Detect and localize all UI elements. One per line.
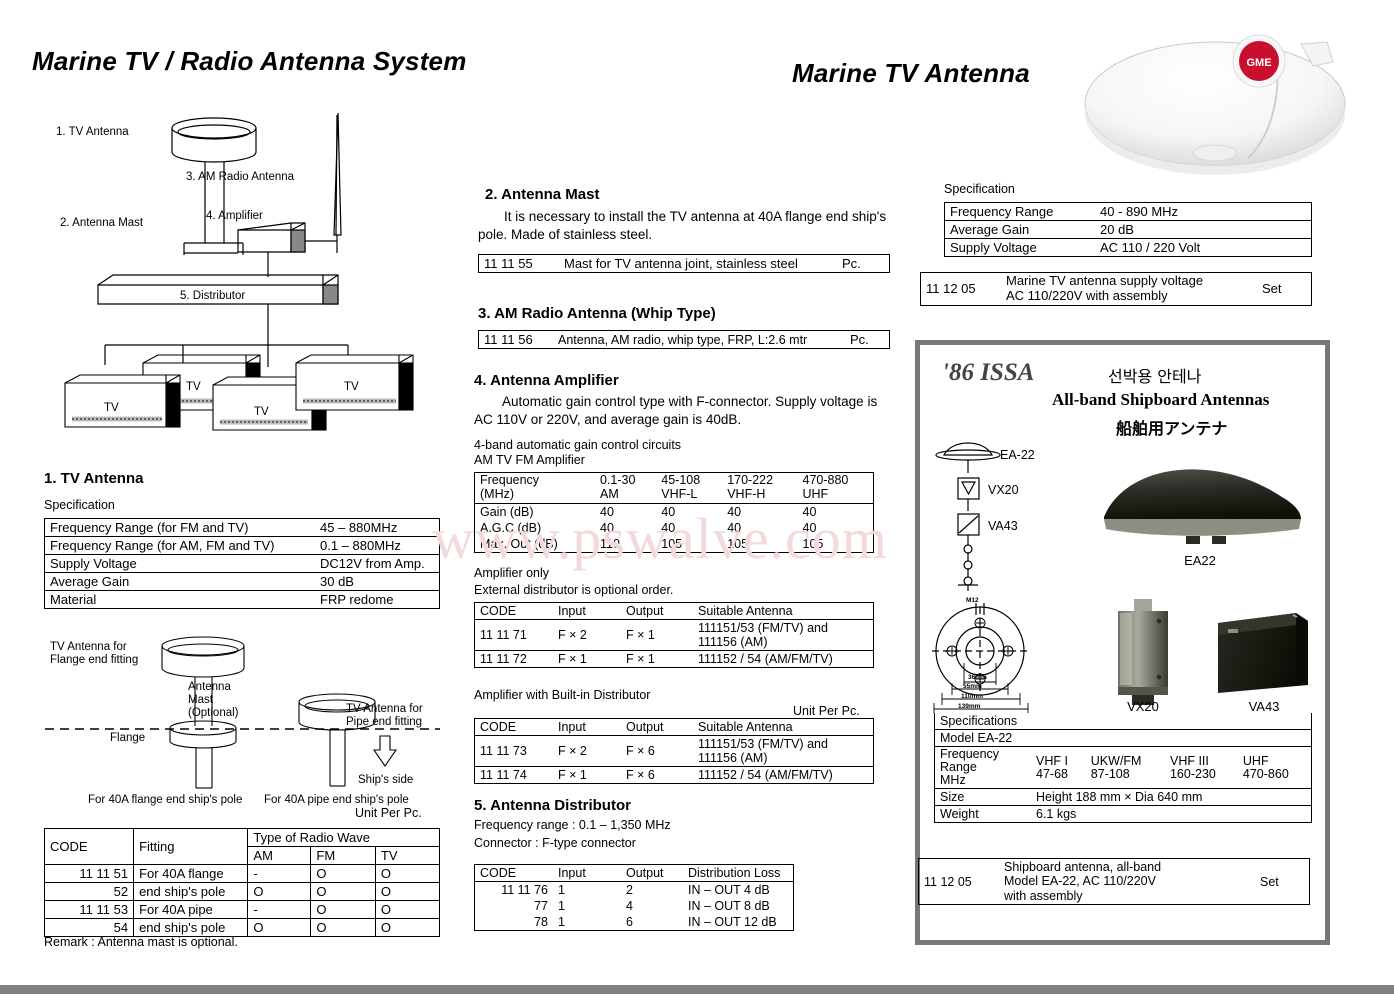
marine-tv-spec-table: Frequency Range 40 - 890 MHz Average Gai… bbox=[944, 202, 1312, 257]
band-range: 160-230 bbox=[1170, 767, 1216, 781]
cell-input: 1 bbox=[553, 898, 621, 914]
cell-value: 40 bbox=[656, 503, 722, 520]
diagram-label-amplifier: 4. Amplifier bbox=[206, 210, 263, 222]
band-range: 170-222 bbox=[727, 473, 773, 487]
section5-title: 5. Antenna Distributor bbox=[474, 797, 631, 814]
cell-output: 2 bbox=[621, 882, 683, 899]
band-name: UHF bbox=[1243, 754, 1269, 768]
band-name: VHF I bbox=[1036, 754, 1068, 768]
weight-label: Weight bbox=[935, 806, 1032, 823]
cell-unit: Pc. bbox=[837, 255, 890, 273]
schematic-label-ea22: EA-22 bbox=[1000, 448, 1035, 462]
spec-name: Frequency Range (for AM, FM and TV) bbox=[45, 537, 316, 555]
cell-input: 1 bbox=[553, 914, 621, 931]
col-am: AM bbox=[248, 847, 311, 865]
band-name: AM bbox=[600, 487, 619, 501]
col-input: Input bbox=[553, 603, 621, 620]
diagram-label-tv-1: TV bbox=[104, 402, 119, 414]
spec-name: Average Gain bbox=[45, 573, 316, 591]
col-code: CODE bbox=[45, 829, 134, 865]
gme-logo-text: GME bbox=[1246, 57, 1271, 69]
row-label: Max. Out (dB) bbox=[475, 536, 596, 553]
issa-japanese-title: 船舶用アンテナ bbox=[1116, 415, 1227, 439]
cell-unit: Set bbox=[1255, 859, 1310, 905]
band-name: UKW/FM bbox=[1091, 754, 1142, 768]
cell-am: O bbox=[248, 919, 311, 937]
cell-value: 40 bbox=[722, 503, 797, 520]
table-row: Supply Voltage DC12V from Amp. bbox=[45, 555, 440, 573]
table-header-row: CODE Fitting Type of Radio Wave bbox=[45, 829, 440, 847]
cell-fitting: For 40A flange bbox=[134, 865, 248, 883]
cell-code: 11 11 72 bbox=[475, 651, 554, 668]
cell-value: 110 bbox=[595, 536, 656, 553]
fitting-left-caption-line1: TV Antenna for bbox=[50, 641, 127, 653]
table-row: 11 11 51 For 40A flange - O O bbox=[45, 865, 440, 883]
col-input: Input bbox=[553, 865, 621, 882]
band-name: VHF III bbox=[1170, 754, 1209, 768]
table-row: Frequency Range (for AM, FM and TV) 0.1 … bbox=[45, 537, 440, 555]
cell-output: F × 6 bbox=[621, 767, 693, 784]
section2-title: 2. Antenna Mast bbox=[485, 186, 599, 203]
table-row: 54 end ship's pole O O O bbox=[45, 919, 440, 937]
section1-title: 1. TV Antenna bbox=[44, 470, 143, 487]
spec-value: AC 110 / 220 Volt bbox=[1095, 239, 1312, 257]
spec-name: Frequency Range (for FM and TV) bbox=[45, 519, 316, 537]
spec-value: 40 - 890 MHz bbox=[1095, 203, 1312, 221]
diagram-label-tv-2: TV bbox=[186, 381, 201, 393]
table-row: 78 1 6 IN – OUT 12 dB bbox=[475, 914, 794, 931]
cell-code: 11 11 76 bbox=[475, 882, 554, 899]
col-code: CODE bbox=[475, 719, 554, 736]
builtin-distributor-table: CODE Input Output Suitable Antenna 11 11… bbox=[474, 718, 874, 784]
cell-code: 52 bbox=[45, 883, 134, 901]
cell-fitting: end ship's pole bbox=[134, 919, 248, 937]
section5-line1: Frequency range : 0.1 – 1,350 MHz bbox=[474, 818, 671, 832]
diagram-label-antenna-mast: 2. Antenna Mast bbox=[60, 217, 144, 229]
cell-value: 40 bbox=[595, 520, 656, 536]
cell-desc: Marine TV antenna supply voltage AC 110/… bbox=[1001, 273, 1257, 306]
table-row: 11 11 72 F × 1 F × 1 111152 / 54 (AM/FM/… bbox=[475, 651, 874, 668]
table-row: Frequency Range 40 - 890 MHz bbox=[945, 203, 1312, 221]
issa-band-4: UHF 470-860 bbox=[1238, 747, 1312, 789]
cell-code: 11 12 05 bbox=[921, 273, 1002, 306]
table-row: 11 11 56 Antenna, AM radio, whip type, F… bbox=[479, 331, 890, 349]
cell-desc: Mast for TV antenna joint, stainless ste… bbox=[559, 255, 837, 273]
cell-fitting: end ship's pole bbox=[134, 883, 248, 901]
section4-band-note-line2: AM TV FM Amplifier bbox=[474, 453, 585, 467]
cell-output: F × 1 bbox=[621, 651, 693, 668]
table-row: Max. Out (dB) 110 105 105 105 bbox=[475, 536, 874, 553]
table-header-row: CODE Input Output Suitable Antenna bbox=[475, 603, 874, 620]
marine-tv-order-table: 11 12 05 Marine TV antenna supply voltag… bbox=[920, 272, 1312, 306]
col-fitting: Fitting bbox=[134, 829, 248, 865]
schematic-label-vx20: VX20 bbox=[988, 483, 1019, 497]
size-label: Size bbox=[935, 789, 1032, 806]
issa-band-1: VHF I 47-68 bbox=[1031, 747, 1086, 789]
diagram-label-am-radio-antenna: 3. AM Radio Antenna bbox=[186, 171, 295, 183]
table-row: Size Height 188 mm × Dia 640 mm bbox=[935, 789, 1312, 806]
weight-value: 6.1 kgs bbox=[1031, 806, 1312, 823]
fitting-left-caption-line2: Flange end fitting bbox=[50, 654, 138, 666]
issa-order-table: 11 12 05 Shipboard antenna, all-band Mod… bbox=[918, 858, 1310, 905]
cell-code: 11 12 05 bbox=[919, 859, 1000, 905]
table-row: 11 11 73 F × 2 F × 6 111151/53 (FM/TV) a… bbox=[475, 736, 874, 767]
col-output: Output bbox=[621, 603, 693, 620]
size-value: Height 188 mm × Dia 640 mm bbox=[1031, 789, 1312, 806]
band-col-2: 45-108 VHF-L bbox=[656, 473, 722, 504]
cell-output: 4 bbox=[621, 898, 683, 914]
band-range: 87-108 bbox=[1091, 767, 1130, 781]
spec-value: FRP redome bbox=[315, 591, 440, 609]
photo-label-va43: VA43 bbox=[1249, 699, 1280, 714]
diagram-label-distributor: 5. Distributor bbox=[180, 290, 245, 302]
tv-antenna-spec-table: Frequency Range (for FM and TV) 45 – 880… bbox=[44, 518, 440, 609]
cell-input: F × 1 bbox=[553, 767, 621, 784]
band-col-4: 470-880 UHF bbox=[798, 473, 874, 504]
table-row: 11 11 74 F × 1 F × 6 111152 / 54 (AM/FM/… bbox=[475, 767, 874, 784]
section1-spec-label: Specification bbox=[44, 498, 115, 512]
table-header-row: CODE Input Output Distribution Loss bbox=[475, 865, 794, 882]
fitting-right-caption-line1: TV Antenna for bbox=[346, 703, 423, 715]
table-row: Model EA-22 bbox=[935, 730, 1312, 747]
amplifier-only-table: CODE Input Output Suitable Antenna 11 11… bbox=[474, 602, 874, 668]
issa-product-photos: EA22 VX20 VA43 bbox=[1096, 441, 1321, 711]
spec-name: Supply Voltage bbox=[945, 239, 1096, 257]
cell-code: 11 11 55 bbox=[479, 255, 560, 273]
dim-label-139mm: 139mm bbox=[958, 703, 981, 710]
fitting-right-bottom-label: For 40A pipe end ship's pole bbox=[264, 794, 409, 806]
cell-input: F × 2 bbox=[553, 620, 621, 651]
spec-value: 45 – 880MHz bbox=[315, 519, 440, 537]
cell-loss: IN – OUT 8 dB bbox=[683, 898, 794, 914]
cell-antenna: 111151/53 (FM/TV) and 111156 (AM) bbox=[693, 736, 874, 767]
amplifier-only-line2: External distributor is optional order. bbox=[474, 583, 673, 597]
system-diagram: 1. TV Antenna 2. Antenna Mast 3. AM Radi… bbox=[38, 105, 458, 435]
cell-code: 77 bbox=[475, 898, 554, 914]
ships-side-label: Ship's side bbox=[358, 774, 413, 786]
table-row: 11 11 76 1 2 IN – OUT 4 dB bbox=[475, 882, 794, 899]
cell-fitting: For 40A pipe bbox=[134, 901, 248, 919]
table-row: 11 12 05 Shipboard antenna, all-band Mod… bbox=[919, 859, 1310, 905]
table-row: A.G.C (dB) 40 40 40 40 bbox=[475, 520, 874, 536]
cell-value: 105 bbox=[798, 536, 874, 553]
freq-label: Frequency bbox=[480, 473, 539, 487]
freq-range-row-label: Frequency Range MHz bbox=[935, 747, 1032, 789]
mast-caption-line3: (Optional) bbox=[188, 707, 239, 719]
table-row: 11 11 71 F × 2 F × 1 111151/53 (FM/TV) a… bbox=[475, 620, 874, 651]
cell-value: 105 bbox=[722, 536, 797, 553]
band-range: 47-68 bbox=[1036, 767, 1068, 781]
col-input: Input bbox=[553, 719, 621, 736]
dim-label-110mm: 110mm bbox=[961, 693, 983, 700]
cell-code: 11 11 73 bbox=[475, 736, 554, 767]
cell-output: 6 bbox=[621, 914, 683, 931]
col-suitable-antenna: Suitable Antenna bbox=[693, 603, 874, 620]
band-table-row-header: Frequency(MHz) bbox=[475, 473, 596, 504]
band-name: VHF-L bbox=[661, 487, 697, 501]
table-row: 11 11 53 For 40A pipe - O O bbox=[45, 901, 440, 919]
cell-antenna: 111152 / 54 (AM/FM/TV) bbox=[693, 651, 874, 668]
band-col-3: 170-222 VHF-H bbox=[722, 473, 797, 504]
band-range: 45-108 bbox=[661, 473, 700, 487]
spec-value: 0.1 – 880MHz bbox=[315, 537, 440, 555]
cell-antenna: 111151/53 (FM/TV) and 111156 (AM) bbox=[693, 620, 874, 651]
cell-tv: O bbox=[375, 919, 439, 937]
issa-korean-title: 선박용 안테나 bbox=[1108, 363, 1201, 387]
marine-tv-antenna-photo: GME bbox=[1065, 18, 1365, 178]
issa-band-2: UKW/FM 87-108 bbox=[1086, 747, 1165, 789]
section5-line2: Connector : F-type connector bbox=[474, 836, 636, 850]
cell-code: 78 bbox=[475, 914, 554, 931]
col-code: CODE bbox=[475, 865, 554, 882]
freq-unit-label: (MHz) bbox=[480, 487, 514, 501]
band-name: VHF-H bbox=[727, 487, 765, 501]
band-col-1: 0.1-30 AM bbox=[595, 473, 656, 504]
spec-title: Specifications bbox=[935, 713, 1312, 730]
builtin-unit-note: Unit Per Pc. bbox=[793, 704, 860, 718]
cell-output: F × 1 bbox=[621, 620, 693, 651]
col-tv: TV bbox=[375, 847, 439, 865]
spec-value: 30 dB bbox=[315, 573, 440, 591]
tv-antenna-code-table: CODE Fitting Type of Radio Wave AM FM TV… bbox=[44, 828, 440, 937]
cell-value: 40 bbox=[722, 520, 797, 536]
cell-code: 11 11 71 bbox=[475, 620, 554, 651]
cell-value: 40 bbox=[595, 503, 656, 520]
spec-name: Supply Voltage bbox=[45, 555, 316, 573]
col-fm: FM bbox=[311, 847, 375, 865]
section4-body: Automatic gain control type with F-conne… bbox=[474, 393, 890, 429]
cell-am: - bbox=[248, 865, 311, 883]
cell-loss: IN – OUT 4 dB bbox=[683, 882, 794, 899]
table-header-row: CODE Input Output Suitable Antenna bbox=[475, 719, 874, 736]
table-row: Gain (dB) 40 40 40 40 bbox=[475, 503, 874, 520]
marine-tv-spec-label: Specification bbox=[944, 182, 1015, 196]
cell-output: F × 6 bbox=[621, 736, 693, 767]
table-row: Average Gain 30 dB bbox=[45, 573, 440, 591]
cell-code: 54 bbox=[45, 919, 134, 937]
table-row: 11 12 05 Marine TV antenna supply voltag… bbox=[921, 273, 1312, 306]
section2-body: It is necessary to install the TV antenn… bbox=[478, 208, 890, 244]
amplifier-band-table: Frequency(MHz) 0.1-30 AM 45-108 VHF-L 17… bbox=[474, 472, 874, 553]
dim-label-36mm: 36mm bbox=[968, 674, 987, 681]
flange-label: Flange bbox=[110, 732, 145, 744]
left-page-title: Marine TV / Radio Antenna System bbox=[32, 46, 467, 77]
cell-value: 105 bbox=[656, 536, 722, 553]
cell-code: 11 11 51 bbox=[45, 865, 134, 883]
spec-value: DC12V from Amp. bbox=[315, 555, 440, 573]
cell-value: 40 bbox=[798, 520, 874, 536]
cell-tv: O bbox=[375, 865, 439, 883]
table-row: 77 1 4 IN – OUT 8 dB bbox=[475, 898, 794, 914]
amplifier-only-line1: Amplifier only bbox=[474, 566, 549, 580]
am-radio-antenna-order-table: 11 11 56 Antenna, AM radio, whip type, F… bbox=[478, 330, 890, 349]
cell-tv: O bbox=[375, 883, 439, 901]
table-header-row: Frequency(MHz) 0.1-30 AM 45-108 VHF-L 17… bbox=[475, 473, 874, 504]
issa-specifications-table: Specifications Model EA-22 Frequency Ran… bbox=[934, 713, 1312, 823]
builtin-distributor-title: Amplifier with Built-in Distributor bbox=[474, 688, 650, 702]
section4-band-note-line1: 4-band automatic gain control circuits bbox=[474, 438, 681, 452]
col-code: CODE bbox=[475, 603, 554, 620]
cell-input: F × 1 bbox=[553, 651, 621, 668]
cell-code: 11 11 56 bbox=[479, 331, 554, 349]
fitting-left-bottom-label: For 40A flange end ship's pole bbox=[88, 794, 242, 806]
diagram-label-tv-4: TV bbox=[344, 381, 359, 393]
cell-loss: IN – OUT 12 dB bbox=[683, 914, 794, 931]
table-row: 11 11 55 Mast for TV antenna joint, stai… bbox=[479, 255, 890, 273]
cell-fm: O bbox=[311, 883, 375, 901]
cell-fm: O bbox=[311, 919, 375, 937]
col-output: Output bbox=[621, 865, 683, 882]
cell-fm: O bbox=[311, 901, 375, 919]
antenna-distributor-table: CODE Input Output Distribution Loss 11 1… bbox=[474, 864, 794, 931]
spec-name: Average Gain bbox=[945, 221, 1096, 239]
cell-input: F × 2 bbox=[553, 736, 621, 767]
issa-panel: '86 ISSA 선박용 안테나 All-band Shipboard Ante… bbox=[915, 340, 1330, 945]
mast-caption-line1: Antenna bbox=[188, 681, 231, 693]
col-output: Output bbox=[621, 719, 693, 736]
issa-badge: '86 ISSA bbox=[942, 359, 1034, 387]
row-label: Gain (dB) bbox=[475, 503, 596, 520]
cell-am: - bbox=[248, 901, 311, 919]
cell-input: 1 bbox=[553, 882, 621, 899]
diagram-label-tv-3: TV bbox=[254, 406, 269, 418]
fitting-diagram: TV Antenna for Flange end fitting Antenn… bbox=[40, 628, 450, 808]
mast-caption-line2: Mast bbox=[188, 694, 214, 706]
row-label: A.G.C (dB) bbox=[475, 520, 596, 536]
bottom-bar bbox=[0, 985, 1394, 994]
table-row: Weight 6.1 kgs bbox=[935, 806, 1312, 823]
issa-band-3: VHF III 160-230 bbox=[1165, 747, 1238, 789]
spec-name: Frequency Range bbox=[945, 203, 1096, 221]
table-row: Material FRP redome bbox=[45, 591, 440, 609]
table-row: Frequency Range MHz VHF I 47-68 UKW/FM 8… bbox=[935, 747, 1312, 789]
section1-unit-note: Unit Per Pc. bbox=[355, 806, 422, 820]
table-header-row: Specifications bbox=[935, 713, 1312, 730]
section3-title: 3. AM Radio Antenna (Whip Type) bbox=[478, 305, 716, 322]
spec-name: Material bbox=[45, 591, 316, 609]
table-row: Average Gain 20 dB bbox=[945, 221, 1312, 239]
cell-unit: Set bbox=[1257, 273, 1312, 306]
issa-schematic: M12 36mm 55mm 110mm 139mm EA-22 VX20 VA4… bbox=[928, 433, 1098, 713]
band-name: UHF bbox=[803, 487, 829, 501]
cell-value: 40 bbox=[798, 503, 874, 520]
cell-value: 40 bbox=[656, 520, 722, 536]
model-label: Model EA-22 bbox=[935, 730, 1312, 747]
cell-fm: O bbox=[311, 865, 375, 883]
spec-value: 20 dB bbox=[1095, 221, 1312, 239]
col-distribution-loss: Distribution Loss bbox=[683, 865, 794, 882]
fitting-right-caption-line2: Pipe end fitting bbox=[346, 716, 422, 728]
cell-antenna: 111152 / 54 (AM/FM/TV) bbox=[693, 767, 874, 784]
cell-am: O bbox=[248, 883, 311, 901]
dim-label-m12: M12 bbox=[966, 597, 979, 604]
section4-title: 4. Antenna Amplifier bbox=[474, 372, 619, 389]
photo-label-vx20: VX20 bbox=[1127, 699, 1159, 714]
band-range: 470-860 bbox=[1243, 767, 1289, 781]
antenna-mast-order-table: 11 11 55 Mast for TV antenna joint, stai… bbox=[478, 254, 890, 273]
col-type-of-radio-wave: Type of Radio Wave bbox=[248, 829, 440, 847]
diagram-label-tv-antenna: 1. TV Antenna bbox=[56, 126, 129, 138]
cell-desc: Shipboard antenna, all-band Model EA-22,… bbox=[999, 859, 1255, 905]
schematic-label-va43: VA43 bbox=[988, 519, 1018, 533]
table-row: Supply Voltage AC 110 / 220 Volt bbox=[945, 239, 1312, 257]
band-range: 470-880 bbox=[803, 473, 849, 487]
cell-code: 11 11 74 bbox=[475, 767, 554, 784]
dim-label-55mm: 55mm bbox=[963, 683, 982, 690]
issa-english-title: All-band Shipboard Antennas bbox=[1052, 390, 1269, 410]
section1-remark: Remark : Antenna mast is optional. bbox=[44, 935, 238, 949]
cell-desc: Antenna, AM radio, whip type, FRP, L:2.6… bbox=[553, 331, 845, 349]
col-suitable-antenna: Suitable Antenna bbox=[693, 719, 874, 736]
table-row: 52 end ship's pole O O O bbox=[45, 883, 440, 901]
right-page-title: Marine TV Antenna bbox=[792, 58, 1030, 89]
cell-code: 11 11 53 bbox=[45, 901, 134, 919]
photo-label-ea22: EA22 bbox=[1184, 553, 1216, 568]
table-row: Frequency Range (for FM and TV) 45 – 880… bbox=[45, 519, 440, 537]
cell-unit: Pc. bbox=[845, 331, 890, 349]
band-range: 0.1-30 bbox=[600, 473, 635, 487]
cell-tv: O bbox=[375, 901, 439, 919]
